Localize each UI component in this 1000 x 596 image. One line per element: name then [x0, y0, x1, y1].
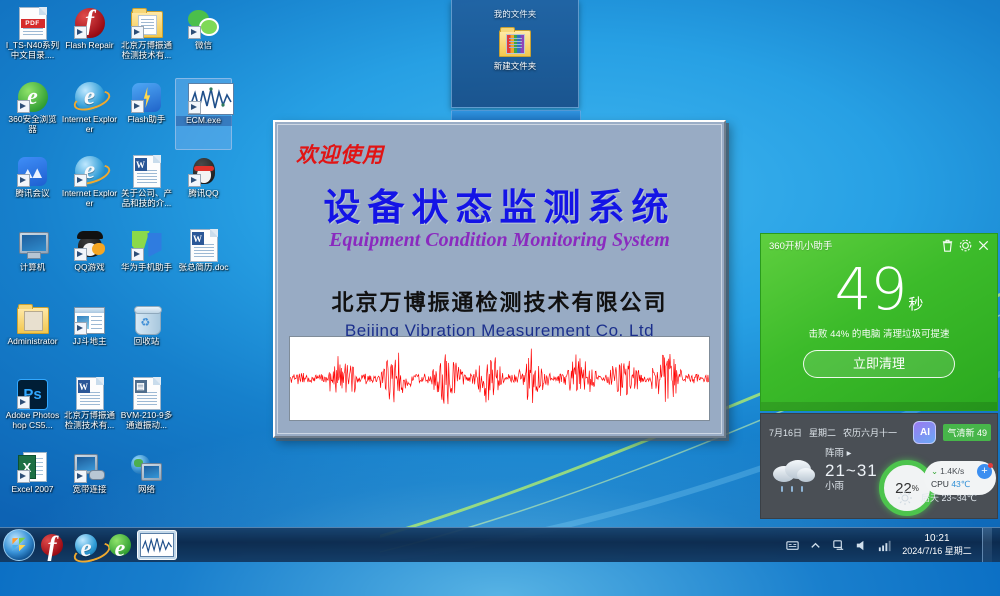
trash-icon[interactable] — [940, 238, 955, 253]
shortcut-overlay-icon — [74, 470, 87, 483]
flash-assistant-icon — [131, 81, 163, 113]
pdf-document-icon: PDF — [17, 7, 49, 39]
jj-landlord-icon — [74, 303, 106, 335]
network-icon[interactable] — [831, 538, 846, 553]
shortcut-overlay-icon — [188, 174, 201, 187]
computer-icon — [17, 229, 49, 261]
desktop-icon-label: Flash Repair — [62, 41, 118, 51]
excel-icon: X — [17, 451, 49, 483]
taskbar-clock[interactable]: 10:21 2024/7/16 星期二 — [900, 532, 974, 558]
desktop-icon-folder-icon[interactable]: 北京万博振通检测技术有... — [118, 4, 175, 76]
weather-body: 阵雨 ▸ 21~31 小雨 22% ⌄1.4K/s CPU 43℃ + 后天 2… — [761, 444, 997, 510]
folder-popup-item-label: 新建文件夹 — [494, 60, 537, 72]
internet-explorer-icon — [74, 81, 106, 113]
360-browser-taskbar-icon[interactable] — [103, 530, 137, 560]
desktop-icon-flash-assistant-icon[interactable]: Flash助手 — [118, 78, 175, 150]
desktop-icon-user-folder-icon[interactable]: Administrator — [4, 300, 61, 372]
weather-header: 7月16日 星期二 农历六月十一 AI 气清新 49 — [761, 414, 997, 444]
shortcut-overlay-icon — [74, 174, 87, 187]
desktop-icon-360-browser-icon[interactable]: 360安全浏览器 — [4, 78, 61, 150]
boot360-description: 击败 44% 的电脑 清理垃圾可提速 — [761, 326, 997, 340]
shortcut-overlay-icon — [131, 26, 144, 39]
user-folder-icon — [17, 303, 49, 335]
flash-repair-taskbar-icon[interactable] — [35, 530, 69, 560]
boot-time-display: 49秒 — [761, 260, 997, 318]
desktop-icon-pdf-document-icon[interactable]: PDFI_TS-N40系列中文目录.... — [4, 4, 61, 76]
volume-icon[interactable] — [854, 538, 869, 553]
system-tray[interactable]: 10:21 2024/7/16 星期二 — [785, 528, 1000, 562]
360-browser-icon — [17, 81, 49, 113]
recycle-bin-icon: ♻ — [131, 303, 163, 335]
company-name-cn: 北京万博振通检测技术有限公司 — [278, 285, 721, 317]
weather-readout: 阵雨 ▸ 21~31 小雨 — [825, 448, 878, 493]
desktop-icon-label: QQ游戏 — [62, 263, 118, 273]
desktop-icon-flash-repair-icon[interactable]: Flash Repair — [61, 4, 118, 76]
internet-explorer-icon — [74, 155, 106, 187]
shortcut-overlay-icon — [74, 248, 87, 261]
desktop-icon-internet-explorer-icon[interactable]: Internet Explorer — [61, 78, 118, 150]
check-icon: ⌄ — [931, 466, 938, 476]
waveform-svg — [290, 337, 709, 420]
desktop-icon-label: Administrator — [5, 337, 61, 347]
shortcut-overlay-icon — [188, 101, 201, 114]
desktop-icon-label: 宽带连接 — [62, 485, 118, 495]
shortcut-overlay-icon — [17, 100, 30, 113]
vibration-waveform-panel — [289, 336, 710, 421]
flash-repair-icon — [74, 7, 106, 39]
desktop-icon-excel-icon[interactable]: XExcel 2007 — [4, 448, 61, 520]
ecm-splash-window[interactable]: 欢迎使用 设备状态监测系统 Equipment Condition Monito… — [273, 120, 726, 438]
ecm-waveform-icon — [188, 82, 220, 114]
desktop-icon-label: 360安全浏览器 — [5, 115, 61, 134]
desktop-icon-label: I_TS-N40系列中文目录.... — [5, 41, 61, 60]
splash-title-en: Equipment Condition Monitoring System — [278, 229, 721, 252]
word-document-icon: W — [74, 377, 106, 409]
desktop-icon-label: Internet Explorer — [62, 189, 118, 208]
folder-icon[interactable] — [499, 30, 531, 57]
shortcut-overlay-icon — [17, 470, 30, 483]
huawei-assistant-icon — [131, 229, 163, 261]
desktop-icon-label: BVM-210-9多通道振动... — [119, 411, 175, 430]
close-icon[interactable] — [976, 238, 991, 253]
welcome-text: 欢迎使用 — [296, 139, 384, 169]
add-widget-button[interactable]: + — [977, 464, 992, 479]
desktop-icon-word-document-icon[interactable]: W关于公司、产品和技的介... — [118, 152, 175, 224]
desktop-icon-recycle-bin-icon[interactable]: ♻回收站 — [118, 300, 175, 372]
desktop-icon-label: ECM.exe — [176, 116, 232, 126]
forecast-text: 后天 23~34℃ — [921, 491, 977, 504]
desktop-icon-empty — [175, 374, 232, 446]
cpu-temp: 43℃ — [951, 479, 970, 489]
folder-popup[interactable]: 我的文件夹 新建文件夹 — [451, 0, 579, 108]
desktop-icon-label: Internet Explorer — [62, 115, 118, 134]
desktop-icon-word-document-icon[interactable]: W张总简历.doc — [175, 226, 232, 298]
weather-date: 7月16日 — [769, 426, 802, 439]
desktop-icon-label: 网络 — [119, 485, 175, 495]
weather-condition: 阵雨 — [825, 448, 844, 459]
word-document-icon: W — [131, 155, 163, 187]
desktop-icon-label: 计算机 — [5, 263, 61, 273]
desktop-icon-label: 回收站 — [119, 337, 175, 347]
word-document-icon: W — [188, 229, 220, 261]
desktop-icon-label: Excel 2007 — [5, 485, 61, 495]
desktop-icon-wechat-icon[interactable]: 微信 — [175, 4, 232, 76]
desktop-icon-qq-games-icon[interactable]: QQ游戏 — [61, 226, 118, 298]
desktop-icon-label: 腾讯会议 — [5, 189, 61, 199]
start-button[interactable] — [3, 529, 35, 561]
boot360-titlebar: 360开机小助手 — [761, 234, 997, 254]
air-quality-badge: 气清新 49 — [943, 424, 991, 441]
boot-time-unit: 秒 — [908, 296, 923, 313]
desktop-icon-label: Adobe Photoshop CS5... — [5, 411, 61, 430]
windows-logo-icon — [12, 538, 26, 552]
shortcut-overlay-icon — [131, 100, 144, 113]
document-icon: ▤ — [131, 377, 163, 409]
broadband-connection-icon — [74, 451, 106, 483]
gear-icon[interactable] — [958, 238, 973, 253]
desktop-icon-ecm-waveform-icon[interactable]: ECM.exe — [175, 78, 232, 150]
desktop-icon-label: 微信 — [176, 41, 232, 51]
desktop-icon-label: 张总简历.doc — [176, 263, 232, 273]
network-speed: 1.4K/s — [940, 466, 964, 476]
desktop-icon-photoshop-icon[interactable]: Adobe Photoshop CS5... — [4, 374, 61, 446]
show-hidden-arrow-icon[interactable] — [808, 538, 823, 553]
clock-time: 10:21 — [900, 532, 974, 545]
shortcut-overlay-icon — [17, 174, 30, 187]
hidden-icons-icon[interactable] — [785, 538, 800, 553]
desktop-icon-word-document-icon[interactable]: W北京万博振通检测技术有... — [61, 374, 118, 446]
boot360-title: 360开机小助手 — [769, 238, 937, 252]
desktop-icon-network-icon[interactable]: 网络 — [118, 448, 175, 520]
clean-now-button[interactable]: 立即清理 — [803, 350, 955, 378]
qq-penguin-icon — [188, 155, 220, 187]
boot-time-value: 49 — [835, 255, 907, 323]
desktop-icon-label: Flash助手 — [119, 115, 175, 125]
desktop-icon-label: 北京万博振通检测技术有... — [119, 41, 175, 60]
desktop-icon-computer-icon[interactable]: 计算机 — [4, 226, 61, 298]
splash-inner-panel: 欢迎使用 设备状态监测系统 Equipment Condition Monito… — [277, 124, 722, 434]
show-desktop-button[interactable] — [982, 528, 992, 562]
ecm-taskbar-item[interactable] — [137, 530, 177, 560]
desktop-icon-jj-landlord-icon[interactable]: JJ斗地主 — [61, 300, 118, 372]
shortcut-overlay-icon — [74, 26, 87, 39]
desktop-icon-label: 北京万博振通检测技术有... — [62, 411, 118, 430]
taskbar[interactable]: 10:21 2024/7/16 星期二 — [0, 527, 1000, 562]
desktop-icon-grid[interactable]: PDFI_TS-N40系列中文目录....Flash Repair北京万博振通检… — [4, 4, 234, 520]
desktop-icon-label: 腾讯QQ — [176, 189, 232, 199]
desktop-icon-empty — [175, 300, 232, 372]
boot360-footer — [761, 402, 997, 410]
shortcut-overlay-icon — [131, 248, 144, 261]
internet-explorer-taskbar-icon[interactable] — [69, 530, 103, 560]
desktop-icon-label: 华为手机助手 — [119, 263, 175, 273]
weather-temp-range: 21~31 — [825, 460, 878, 481]
folder-popup-title: 我的文件夹 — [494, 8, 537, 20]
wechat-icon — [188, 7, 220, 39]
desktop-icon-huawei-assistant-icon[interactable]: 华为手机助手 — [118, 226, 175, 298]
desktop-icon-qq-penguin-icon[interactable]: 腾讯QQ — [175, 152, 232, 224]
desktop-icon-document-icon[interactable]: ▤BVM-210-9多通道振动... — [118, 374, 175, 446]
shortcut-overlay-icon — [17, 396, 30, 409]
desktop-icon-tencent-meeting-icon[interactable]: 腾讯会议 — [4, 152, 61, 224]
clock-date: 2024/7/16 星期二 — [900, 545, 974, 558]
splash-title-cn: 设备状态监测系统 — [278, 177, 721, 231]
signal-icon[interactable] — [877, 538, 892, 553]
cpu-label: CPU — [931, 479, 949, 489]
shortcut-overlay-icon — [188, 26, 201, 39]
ai-button[interactable]: AI — [913, 421, 936, 444]
desktop-icon-broadband-connection-icon[interactable]: 宽带连接 — [61, 448, 118, 520]
weather-weekday: 星期二 — [809, 426, 836, 439]
weather-system-widget[interactable]: 7月16日 星期二 农历六月十一 AI 气清新 49 阵雨 ▸ 21~31 小雨… — [760, 413, 998, 519]
network-icon — [131, 451, 163, 483]
sun-icon — [897, 490, 913, 506]
desktop-icon-internet-explorer-icon[interactable]: Internet Explorer — [61, 152, 118, 224]
desktop-icon-empty — [175, 448, 232, 520]
shortcut-overlay-icon — [74, 322, 87, 335]
tencent-meeting-icon — [17, 155, 49, 187]
desktop-icon-label: 关于公司、产品和技的介... — [119, 189, 175, 208]
desktop-icon-label: JJ斗地主 — [62, 337, 118, 347]
rain-cloud-icon — [771, 458, 817, 492]
360-boot-assistant-widget[interactable]: 360开机小助手 49秒 击败 44% 的电脑 清理垃圾可提速 立即清理 — [760, 233, 998, 411]
folder-icon — [131, 7, 163, 39]
weather-lunar: 农历六月十一 — [843, 426, 897, 439]
photoshop-icon — [17, 377, 49, 409]
qq-games-icon — [74, 229, 106, 261]
weather-condition-sub: 小雨 — [825, 481, 878, 493]
